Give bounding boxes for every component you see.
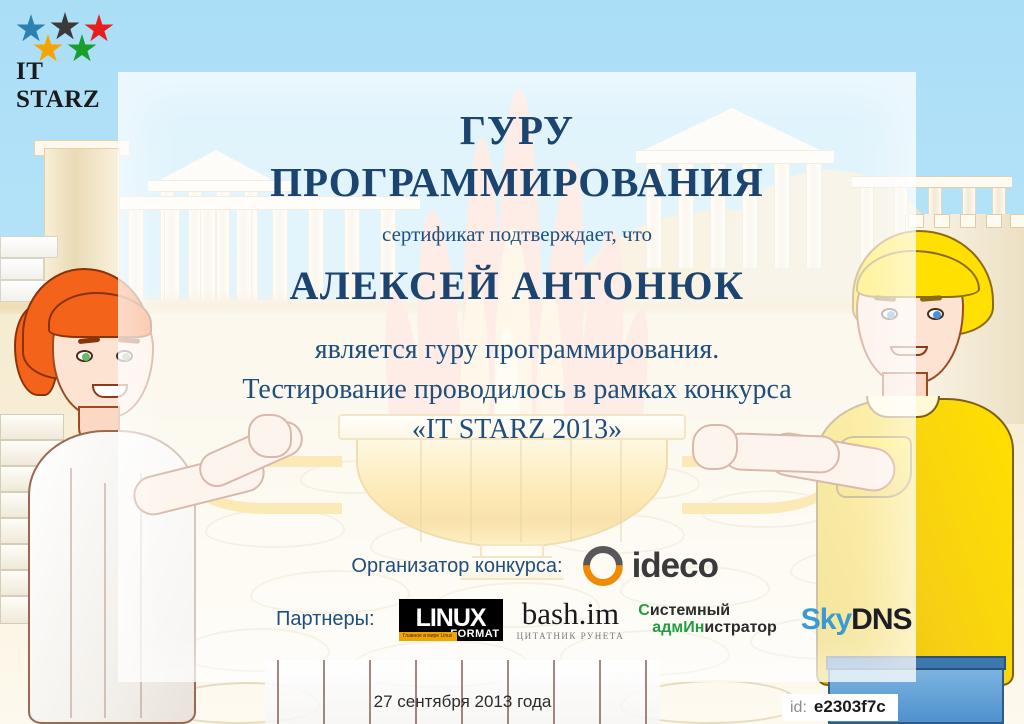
- partners-label: Партнеры:: [276, 608, 375, 631]
- star-icon-dark: [50, 12, 80, 42]
- certificate-id-value: e2303f7c: [814, 697, 886, 717]
- certificate-date: 27 сентября 2013 года: [265, 692, 660, 712]
- linux-format-logo: LINUX FORMAT Главное в мире Linux: [399, 599, 503, 641]
- certificate-body: является гуру программирования. Тестиров…: [118, 330, 916, 449]
- page-title: ГУРУ ПРОГРАММИРОВАНИЯ: [118, 104, 916, 209]
- sysadm-line-1: Системный: [638, 603, 776, 619]
- title-line-1: ГУРУ: [118, 104, 916, 156]
- skydns-part-dns: DNS: [851, 603, 911, 636]
- sysadm-line1-rest: истемный: [650, 602, 730, 619]
- sysadm-line-2: адмИнистратор: [652, 620, 776, 636]
- it-starz-logo: IT STARZ: [14, 12, 118, 90]
- bash-im-wordmark: bash.im: [522, 598, 619, 629]
- body-line-1: является гуру программирования.: [118, 330, 916, 370]
- sysadm-line1-accent: С: [638, 602, 650, 619]
- ideco-swirl-icon: [583, 546, 623, 586]
- recipient-name: АЛЕКСЕЙ АНТОНЮК: [118, 262, 916, 309]
- organizer-row: Организатор конкурса: ideco: [118, 546, 718, 586]
- certificate-id-label: id:: [790, 699, 807, 717]
- body-line-2: Тестирование проводилось в рамках конкур…: [118, 370, 916, 410]
- skydns-part-sky: Sky: [801, 603, 851, 636]
- linux-format-secondary: FORMAT: [450, 628, 499, 640]
- ideco-logo: ideco: [583, 546, 718, 586]
- bash-im-tagline: ЦИТАТНИК РУНЕТА: [517, 631, 625, 641]
- star-icon-red: [84, 14, 114, 44]
- sysadm-line2-rest: истратор: [704, 619, 776, 636]
- star-icon-blue: [16, 14, 46, 44]
- sysadm-line2-accent: адмИн: [652, 619, 704, 636]
- sistemny-administrator-logo: Системный адмИнистратор: [638, 603, 776, 636]
- stars-group: [14, 12, 118, 58]
- certificate-id-box: id: e2303f7c: [782, 694, 898, 721]
- logo-wordmark: IT STARZ: [16, 58, 118, 114]
- ideco-wordmark: ideco: [632, 546, 718, 586]
- linux-format-tagline: Главное в мире Linux: [399, 632, 457, 641]
- partners-row: Партнеры: LINUX FORMAT Главное в мире Li…: [118, 598, 916, 641]
- certificate-subtitle: сертификат подтверждает, что: [118, 222, 916, 247]
- body-line-3: «IT STARZ 2013»: [118, 410, 916, 450]
- organizer-label: Организатор конкурса:: [351, 555, 562, 578]
- skydns-logo: SkyDNS: [801, 603, 912, 637]
- bash-im-logo: bash.im ЦИТАТНИК РУНЕТА: [517, 598, 625, 641]
- certificate-canvas: IT STARZ ГУРУ ПРОГРАММИРОВАНИЯ сертифика…: [0, 0, 1024, 724]
- title-line-2: ПРОГРАММИРОВАНИЯ: [118, 156, 916, 208]
